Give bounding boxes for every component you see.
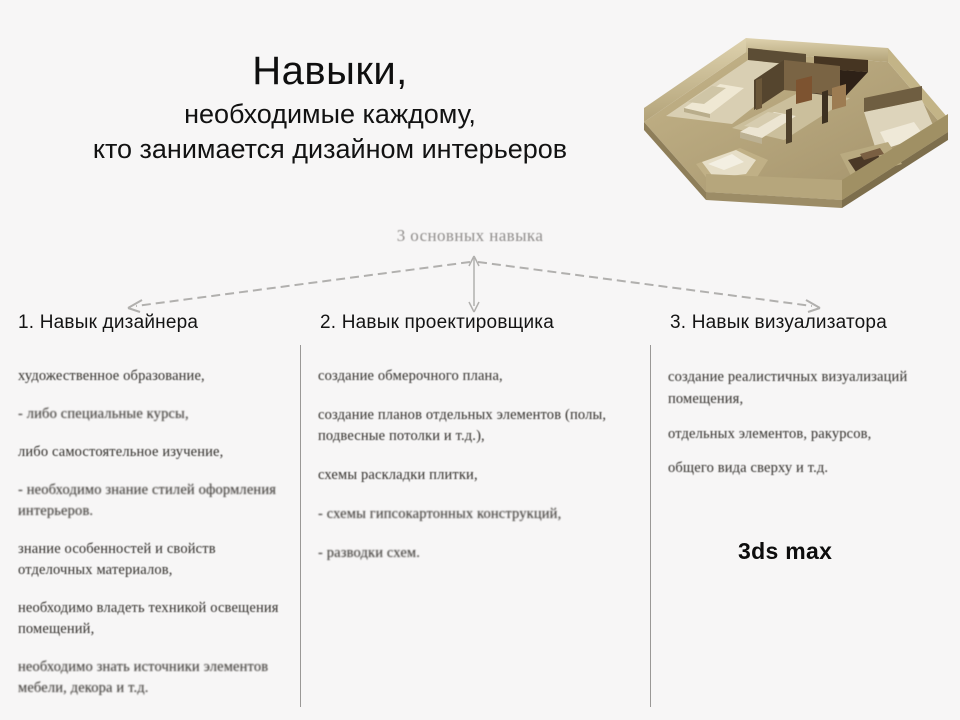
hub-label: 3 основных навыка: [330, 226, 610, 246]
isometric-floor-plan-image: [636, 4, 956, 216]
list-item: необходимо знать источники элементов меб…: [18, 657, 290, 699]
column-3-header: 3. Навык визуализатора: [670, 312, 948, 334]
list-item: - необходимо знание стилей оформления ин…: [18, 480, 290, 522]
column-1-header: 1. Навык дизайнера: [18, 312, 290, 334]
list-item: - схемы гипсокартонных конструкций,: [318, 504, 642, 525]
list-item: создание обмерочного плана,: [318, 366, 642, 387]
connector-arrows: [0, 248, 960, 320]
list-item: - разводки схем.: [318, 543, 642, 564]
skills-columns: 1. Навык дизайнера художественное образо…: [0, 312, 960, 712]
list-item: знание особенностей и свойств отделочных…: [18, 539, 290, 581]
column-divider-right: [650, 345, 651, 707]
skill-column-designer: 1. Навык дизайнера художественное образо…: [18, 312, 290, 716]
list-item: либо самостоятельное изучение,: [18, 442, 290, 463]
infographic-canvas: Навыки, необходимые каждому, кто занимае…: [0, 0, 960, 720]
list-item: схемы раскладки плитки,: [318, 465, 642, 486]
skill-column-visualizer: 3. Навык визуализатора создание реалисти…: [668, 312, 948, 565]
list-item: отдельных элементов, ракурсов,: [668, 423, 948, 445]
list-item: создание планов отдельных элементов (пол…: [318, 405, 642, 447]
software-label-3ds-max: 3ds max: [738, 538, 948, 565]
list-item: - либо специальные курсы,: [18, 404, 290, 425]
skill-column-planner: 2. Навык проектировщика создание обмероч…: [318, 312, 642, 582]
title-line-3: кто занимается дизайном интерьеров: [30, 134, 630, 166]
column-2-header: 2. Навык проектировщика: [320, 312, 642, 334]
list-item: художественное образование,: [18, 366, 290, 387]
list-item: общего вида сверху и т.д.: [668, 457, 948, 479]
title-line-2: необходимые каждому,: [30, 99, 630, 131]
title-line-1: Навыки,: [30, 48, 630, 95]
page-title: Навыки, необходимые каждому, кто занимае…: [30, 48, 630, 166]
list-item: создание реалистичных визуализаций помещ…: [668, 366, 948, 411]
list-item: необходимо владеть техникой освещения по…: [18, 598, 290, 640]
column-divider-left: [300, 345, 301, 707]
